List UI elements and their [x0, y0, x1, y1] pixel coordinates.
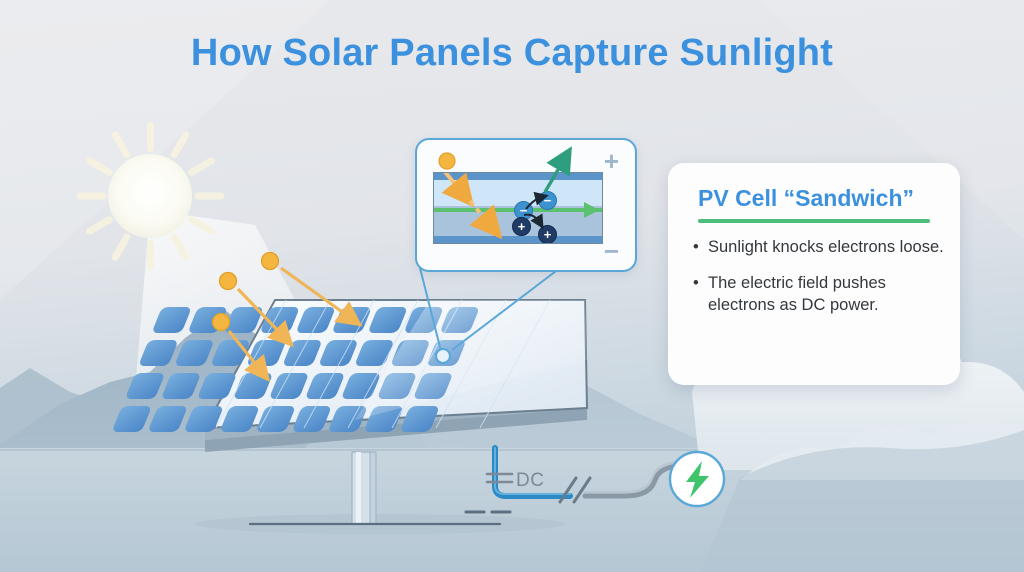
inset-minus-label: − — [604, 238, 619, 264]
infographic-canvas: How Solar Panels Capture Sunlight + − − … — [0, 0, 1024, 572]
list-item-text: Sunlight knocks electrons loose. — [708, 238, 944, 256]
list-item-text: The electric field pushes electrons as D… — [708, 274, 886, 314]
sun-icon — [108, 154, 192, 238]
electron-chip: − — [538, 191, 557, 210]
bullet-glyph: • — [693, 273, 699, 295]
magnifier-focus-point — [436, 349, 450, 363]
top-contact-bar — [434, 173, 602, 180]
photon-dot — [220, 273, 237, 290]
card-heading: PV Cell “Sandwich” — [698, 185, 914, 212]
list-item: • Sunlight knocks electrons loose. — [690, 237, 946, 259]
photon-dot — [262, 253, 279, 270]
card-bullet-list: • Sunlight knocks electrons loose. • The… — [690, 237, 946, 331]
dc-label: DC — [516, 470, 544, 492]
hole-chip: + — [512, 217, 531, 236]
bottom-contact-bar — [434, 236, 602, 243]
page-title: How Solar Panels Capture Sunlight — [0, 32, 1024, 75]
photon-dot — [213, 314, 230, 331]
hole-chip: + — [538, 225, 557, 244]
list-item: • The electric field pushes electrons as… — [690, 273, 946, 317]
pv-cell-inset: + − − − + + — [415, 138, 637, 272]
pv-cell-cross-section: − − + + — [433, 172, 603, 244]
card-heading-rule — [698, 219, 930, 223]
pv-cell-info-card: PV Cell “Sandwich” • Sunlight knocks ele… — [668, 163, 960, 385]
inset-plus-label: + — [604, 148, 619, 174]
bullet-glyph: • — [693, 237, 699, 259]
power-output-node — [670, 452, 724, 506]
inset-photon-dot — [439, 153, 455, 169]
junction-field-arrow — [584, 202, 599, 218]
